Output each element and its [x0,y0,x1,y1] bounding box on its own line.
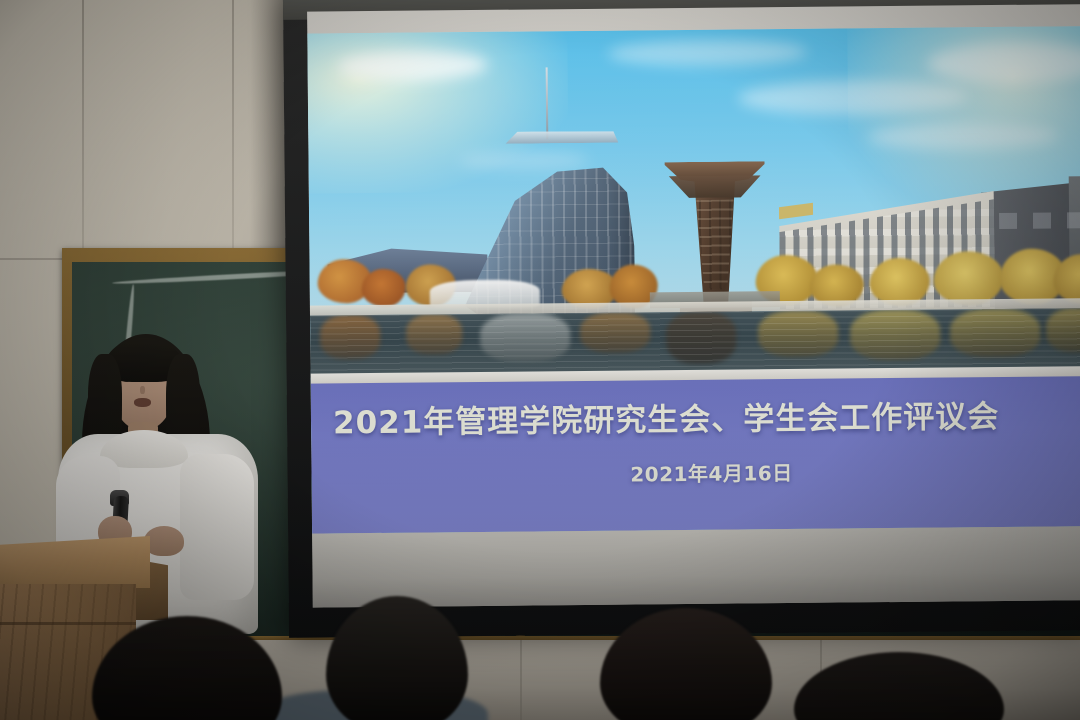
slide-title: 2021年管理学院研究生会、学生会工作评议会 [333,390,1080,443]
autumn-tree [362,269,406,307]
sculpture-rim-inner [669,175,761,198]
slide-date: 2021年4月16日 [311,454,1080,491]
screen-blank-area [312,526,1080,608]
ginkgo-tree [933,251,1004,306]
presenter-mouth [134,398,151,407]
bronze-ding-sculpture [664,151,766,314]
photo-scene: 2021年管理学院研究生会、学生会工作评议会 2021年4月16日 [0,0,1080,720]
presenter-sleeve-right [180,454,254,600]
podium-top [0,536,150,588]
presenter-nose [140,386,145,394]
projection-screen: 2021年管理学院研究生会、学生会工作评议会 2021年4月16日 [283,0,1080,638]
presentation-slide: 2021年管理学院研究生会、学生会工作评议会 2021年4月16日 [307,26,1080,534]
screen-surface: 2021年管理学院研究生会、学生会工作评议会 2021年4月16日 [307,4,1080,608]
lower-panel-seam [520,640,522,720]
presenter-hand-right [144,526,184,556]
podium-edge [0,622,136,625]
dark-building-windows [999,212,1080,229]
slide-title-band: 2021年管理学院研究生会、学生会工作评议会 2021年4月16日 [311,376,1080,534]
